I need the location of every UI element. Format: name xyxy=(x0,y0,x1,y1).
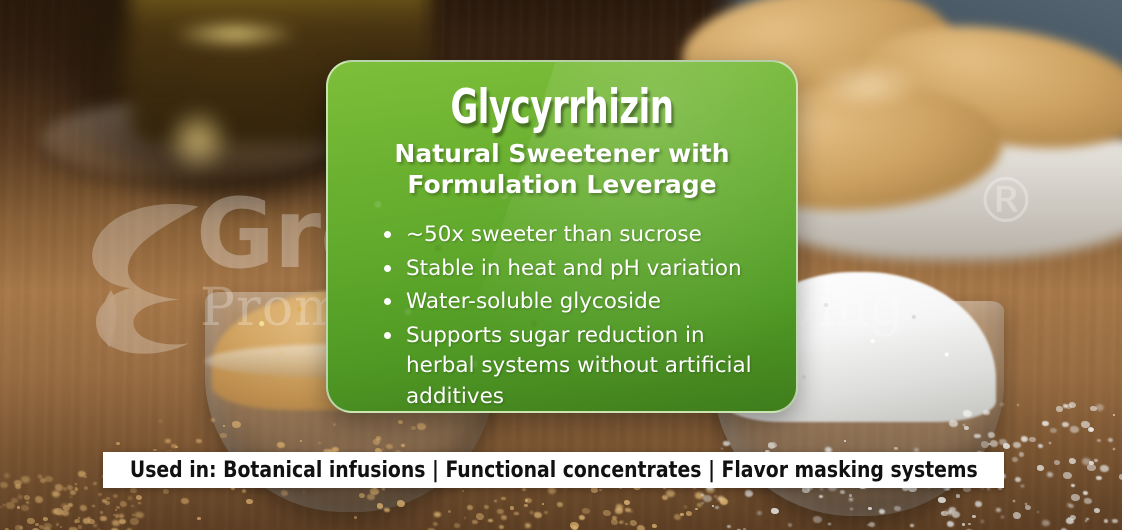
card-subtitle: Natural Sweetener with Formulation Lever… xyxy=(354,139,770,200)
bullet-point-icon xyxy=(384,231,391,238)
bullet-point-icon xyxy=(384,265,391,272)
feature-list-item-label: Water-soluble glycoside xyxy=(406,289,661,314)
usage-banner-text: Used in: Botanical infusions | Functiona… xyxy=(130,457,978,483)
feature-list: ~50x sweeter than sucroseStable in heat … xyxy=(380,220,770,412)
feature-list-item-label: ~50x sweeter than sucrose xyxy=(406,222,702,247)
bullet-point-icon xyxy=(384,332,391,339)
cookie-highlight xyxy=(812,60,922,110)
feature-list-item-label: Stable in heat and pH variation xyxy=(406,256,742,281)
product-info-card: Glycyrrhizin Natural Sweetener with Form… xyxy=(326,60,798,413)
feature-list-item-label: Supports sugar reduction in herbal syste… xyxy=(406,323,752,409)
feature-list-item: Supports sugar reduction in herbal syste… xyxy=(380,321,770,413)
tea-cup-highlight-secondary xyxy=(163,105,233,175)
feature-list-item: Water-soluble glycoside xyxy=(380,287,770,318)
bullet-point-icon xyxy=(384,298,391,305)
feature-list-item: Stable in heat and pH variation xyxy=(380,254,770,285)
feature-list-item: ~50x sweeter than sucrose xyxy=(380,220,770,251)
tea-cup-highlight xyxy=(170,20,300,48)
usage-banner: Used in: Botanical infusions | Functiona… xyxy=(103,452,1004,488)
card-content: Glycyrrhizin Natural Sweetener with Form… xyxy=(328,62,796,411)
product-banner: Greenjeeva ® Promoting Healthy Living Gl… xyxy=(0,0,1122,530)
page-title: Glycyrrhizin xyxy=(396,84,729,131)
